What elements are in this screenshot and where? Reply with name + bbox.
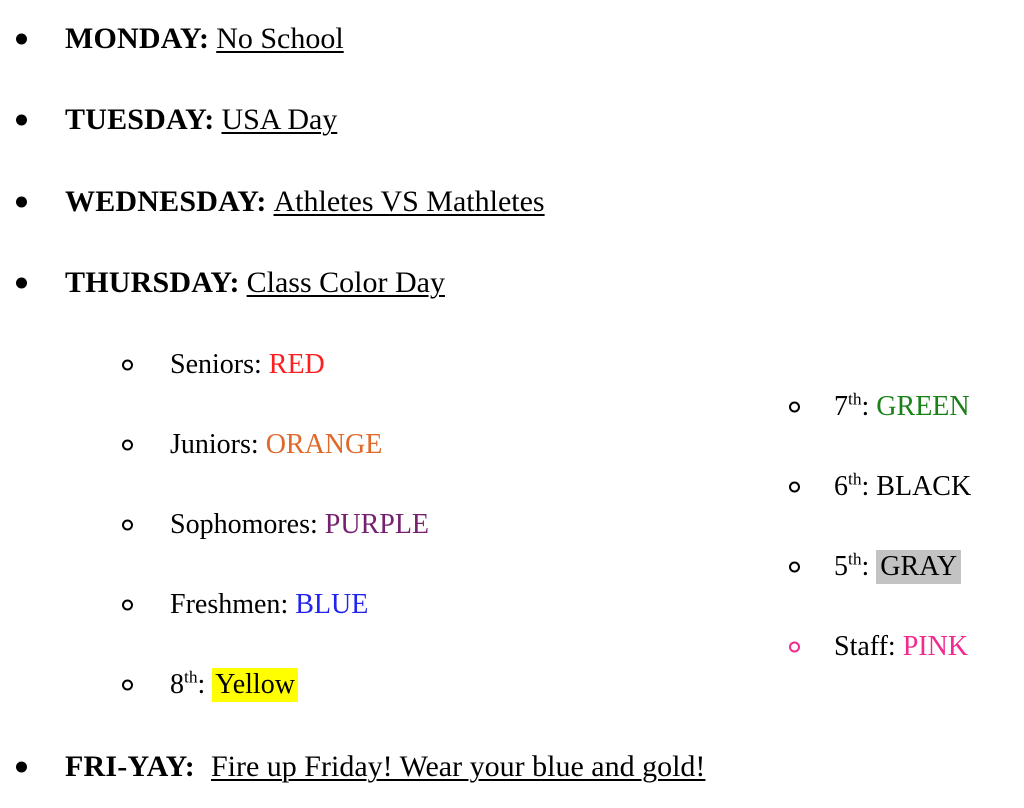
day-value: Fire up Friday! Wear your blue and gold! <box>211 750 705 783</box>
day-value: No School <box>216 22 344 55</box>
separator: : <box>251 429 266 460</box>
day-label: THURSDAY: <box>65 266 240 299</box>
class-color-word: Yellow <box>212 668 298 702</box>
day-row-wednesday: WEDNESDAY:Athletes VS Mathletes <box>0 179 1024 225</box>
day-label: WEDNESDAY: <box>65 185 267 218</box>
ordinal-suffix: th <box>848 390 862 409</box>
hollow-bullet-icon <box>122 600 133 611</box>
bullet-icon <box>16 34 27 45</box>
class-color-word: PINK <box>903 631 968 662</box>
day-row-friday: FRI-YAY:Fire up Friday! Wear your blue a… <box>0 744 1024 790</box>
separator: : <box>862 391 877 422</box>
class-color-line: Freshmen: BLUE <box>170 584 368 626</box>
hollow-bullet-icon <box>789 482 800 493</box>
day-line-friday: FRI-YAY:Fire up Friday! Wear your blue a… <box>65 744 705 790</box>
class-color-row-staff: Staff: PINK <box>0 626 1024 668</box>
ordinal-suffix: th <box>184 668 198 687</box>
class-color-word: BLACK <box>876 471 971 502</box>
day-line-monday: MONDAY:No School <box>65 16 344 62</box>
class-grade-label: Sophomores <box>170 509 310 540</box>
class-color-row-seniors: Seniors: RED <box>0 344 560 386</box>
class-color-line: Sophomores: PURPLE <box>170 504 429 546</box>
class-color-row-6th: 6th: BLACK <box>0 466 1024 508</box>
class-grade-label: 6 <box>834 471 848 502</box>
day-value: Athletes VS Mathletes <box>274 185 545 218</box>
hollow-bullet-icon <box>122 520 133 531</box>
class-grade-label: Staff <box>834 631 888 662</box>
class-color-word: ORANGE <box>266 429 383 460</box>
separator: : <box>862 551 877 582</box>
ordinal-suffix: th <box>848 550 862 569</box>
class-color-row-freshmen: Freshmen: BLUE <box>0 584 560 626</box>
class-color-row-8th: 8th: Yellow <box>0 664 560 706</box>
day-row-thursday: THURSDAY:Class Color Day <box>0 260 1024 306</box>
day-value: USA Day <box>221 103 337 136</box>
class-color-line: 8th: Yellow <box>170 664 298 706</box>
class-color-line: Seniors: RED <box>170 344 325 386</box>
class-color-line: 6th: BLACK <box>834 466 971 508</box>
hollow-bullet-icon <box>789 402 800 413</box>
class-color-word: PURPLE <box>325 509 429 540</box>
class-color-row-juniors: Juniors: ORANGE <box>0 424 560 466</box>
day-label: TUESDAY: <box>65 103 214 136</box>
class-color-word: GREEN <box>876 391 969 422</box>
separator: : <box>310 509 325 540</box>
class-color-line: Staff: PINK <box>834 626 968 668</box>
class-grade-label: Freshmen <box>170 589 280 620</box>
bullet-icon <box>16 278 27 289</box>
hollow-bullet-icon <box>122 360 133 371</box>
class-grade-label: 5 <box>834 551 848 582</box>
separator: : <box>254 349 269 380</box>
day-label: FRI-YAY: <box>65 750 195 783</box>
separator: : <box>862 471 877 502</box>
bullet-icon <box>16 115 27 126</box>
separator: : <box>198 669 213 700</box>
day-label: MONDAY: <box>65 22 209 55</box>
day-line-tuesday: TUESDAY:USA Day <box>65 97 337 143</box>
day-line-thursday: THURSDAY:Class Color Day <box>65 260 445 306</box>
day-line-wednesday: WEDNESDAY:Athletes VS Mathletes <box>65 179 545 225</box>
class-color-row-7th: 7th: GREEN <box>0 386 1024 428</box>
class-color-word: BLUE <box>295 589 368 620</box>
day-row-monday: MONDAY:No School <box>0 16 1024 62</box>
class-color-row-5th: 5th: GRAY <box>0 546 1024 588</box>
class-color-word: RED <box>269 349 325 380</box>
separator: : <box>280 589 295 620</box>
class-grade-label: 8 <box>170 669 184 700</box>
spirit-week-document: { "document": { "title": "Spirit Week Sc… <box>0 0 1024 808</box>
class-color-line: 5th: GRAY <box>834 546 961 588</box>
class-color-line: 7th: GREEN <box>834 386 970 428</box>
class-grade-label: Seniors <box>170 349 254 380</box>
hollow-bullet-icon <box>122 680 133 691</box>
separator: : <box>888 631 903 662</box>
day-value: Class Color Day <box>247 266 445 299</box>
hollow-bullet-icon <box>122 440 133 451</box>
class-color-row-sophomores: Sophomores: PURPLE <box>0 504 560 546</box>
class-grade-label: Juniors <box>170 429 251 460</box>
class-color-word: GRAY <box>876 550 961 584</box>
ordinal-suffix: th <box>848 470 862 489</box>
class-grade-label: 7 <box>834 391 848 422</box>
day-row-tuesday: TUESDAY:USA Day <box>0 97 1024 143</box>
hollow-bullet-icon <box>789 562 800 573</box>
bullet-icon <box>16 762 27 773</box>
class-color-line: Juniors: ORANGE <box>170 424 382 466</box>
hollow-bullet-icon <box>789 642 800 653</box>
bullet-icon <box>16 197 27 208</box>
